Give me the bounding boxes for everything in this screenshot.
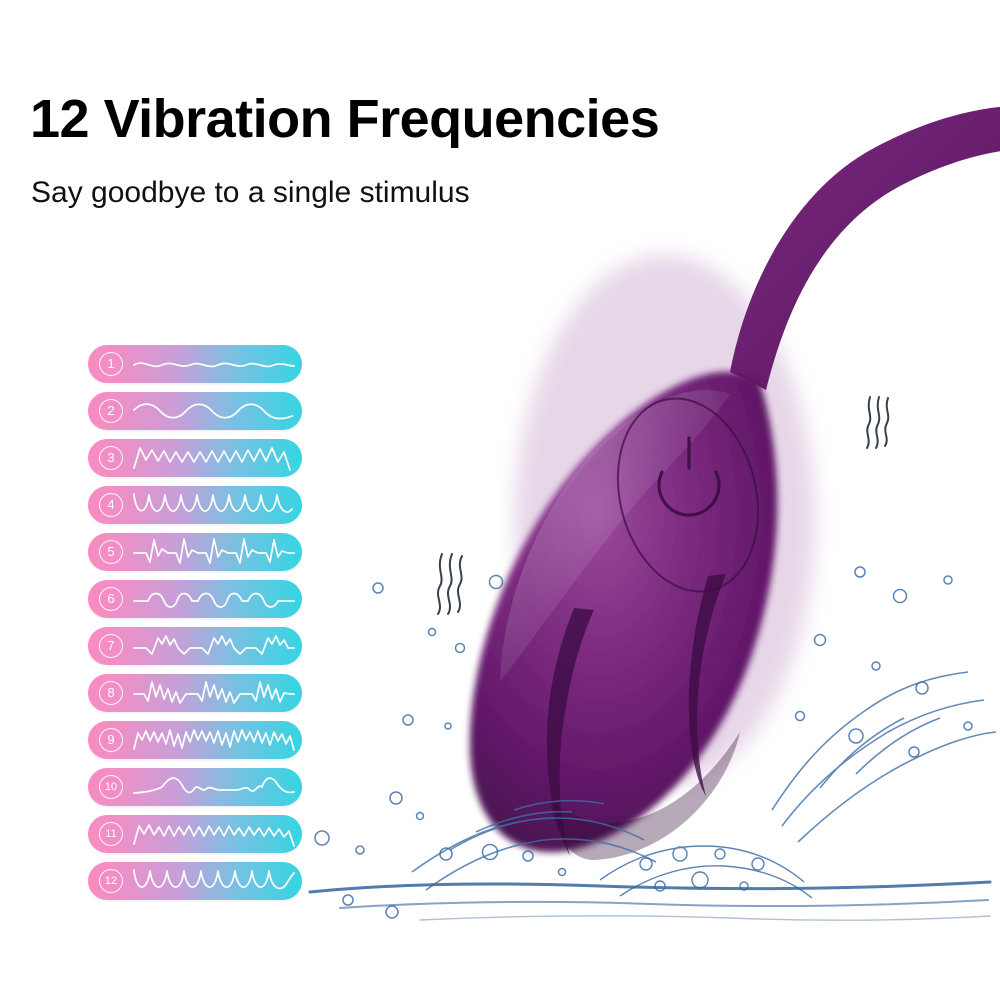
waveform-jagged-cluster (132, 630, 296, 662)
product-cord (730, 106, 1000, 390)
waveform-sawtooth-ramp (132, 442, 296, 474)
waveform-slow-peak-decay (132, 771, 296, 803)
mode-number: 7 (99, 634, 123, 658)
mode-badge[interactable]: 5 (88, 533, 302, 571)
mode-number: 4 (99, 493, 123, 517)
waveform-rounded-pulse-groups (132, 583, 296, 615)
product-svg (430, 60, 1000, 910)
mode-badge[interactable]: 12 (88, 862, 302, 900)
mode-number: 5 (99, 540, 123, 564)
mode-number: 3 (99, 446, 123, 470)
waveform-smooth-sine (132, 395, 296, 427)
mode-number: 6 (99, 587, 123, 611)
mode-badge[interactable]: 10 (88, 768, 302, 806)
mode-number: 2 (99, 399, 123, 423)
vibration-waves-left-icon (432, 548, 472, 618)
mode-badge[interactable]: 4 (88, 486, 302, 524)
mode-number: 1 (99, 352, 123, 376)
product-illustration (430, 60, 1000, 910)
mode-badge[interactable]: 8 (88, 674, 302, 712)
waveform-rolling-zigzag (132, 818, 296, 850)
mode-number: 12 (99, 869, 123, 893)
waveform-tall-sine-burst (132, 489, 296, 521)
mode-badge[interactable]: 11 (88, 815, 302, 853)
waveform-full-sine-wave (132, 865, 296, 897)
waveform-dense-zigzag (132, 724, 296, 756)
mode-badge[interactable]: 9 (88, 721, 302, 759)
mode-number: 11 (99, 822, 123, 846)
waveform-gentle-low-wave (132, 348, 296, 380)
page-subtitle: Say goodbye to a single stimulus (31, 178, 470, 208)
mode-badge[interactable]: 3 (88, 439, 302, 477)
mode-badge[interactable]: 2 (88, 392, 302, 430)
vibration-mode-list: 1 2 3 4 5 (88, 345, 302, 909)
waveform-sharp-burst-cluster (132, 677, 296, 709)
mode-number: 9 (99, 728, 123, 752)
product-feature-graphic: 12 Vibration Frequencies Say goodbye to … (0, 0, 1000, 1000)
mode-badge[interactable]: 7 (88, 627, 302, 665)
mode-badge[interactable]: 6 (88, 580, 302, 618)
mode-number: 10 (99, 775, 123, 799)
waveform-spiked-pulse (132, 536, 296, 568)
mode-badge[interactable]: 1 (88, 345, 302, 383)
vibration-waves-right-icon (862, 392, 896, 452)
mode-number: 8 (99, 681, 123, 705)
